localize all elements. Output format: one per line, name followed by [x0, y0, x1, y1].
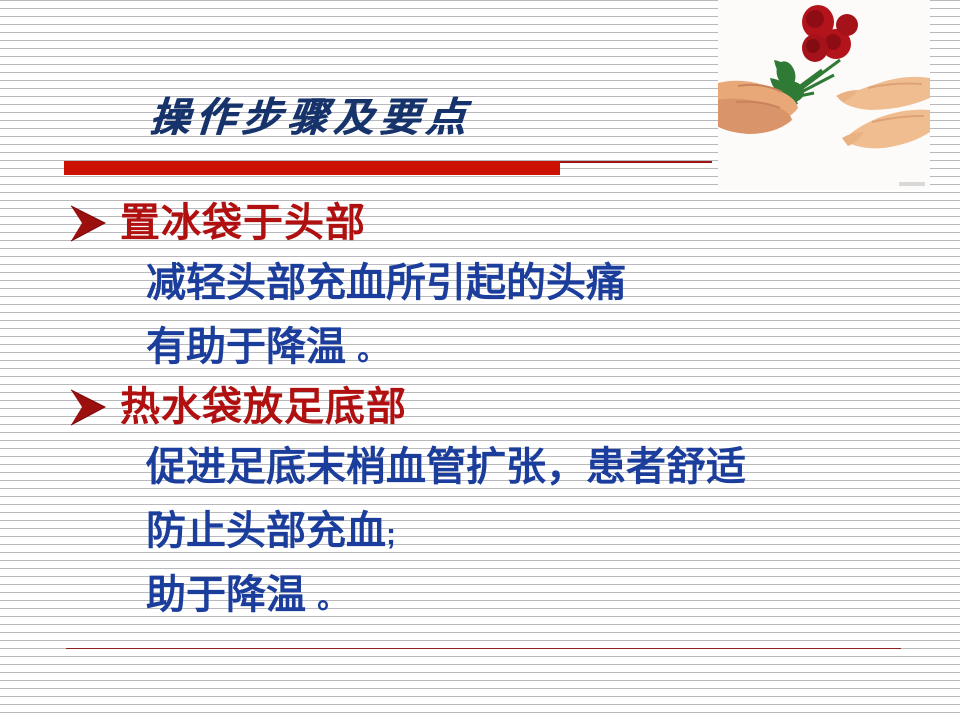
title-accent-bar — [64, 161, 560, 175]
sub-line-punct: ; — [386, 518, 396, 551]
sub-line-text: 促进足底末梢血管扩张，患者舒适 — [146, 445, 746, 489]
arrow-bullet-glyph — [68, 388, 110, 428]
bottom-divider — [66, 648, 901, 649]
sub-line: 有助于降温 。 — [0, 316, 960, 380]
sub-line: 减轻头部充血所引起的头痛 — [0, 252, 960, 316]
title-block: 操作步骤及要点 — [0, 92, 700, 154]
sub-line-text: 有助于降温 — [146, 325, 357, 369]
bullet-heading-text: 置冰袋于头部 — [120, 196, 366, 250]
arrow-bullet-icon — [68, 204, 110, 244]
sub-line: 助于降温 。 — [0, 564, 960, 628]
hands-roses-image — [718, 0, 930, 190]
sub-line-text: 防止头部充血 — [146, 509, 386, 553]
sub-line: 防止头部充血; — [0, 500, 960, 564]
bullet-group-2: 热水袋放足底部 促进足底末梢血管扩张，患者舒适 防止头部充血; 助于降温 。 — [0, 380, 960, 628]
arrow-bullet-glyph — [68, 204, 110, 244]
arrow-bullet-icon — [68, 388, 110, 428]
bullet-heading-text: 热水袋放足底部 — [120, 380, 407, 434]
sub-line-punct: 。 — [317, 582, 347, 615]
page-title: 操作步骤及要点 — [148, 92, 474, 144]
sub-line-text: 助于降温 — [146, 573, 317, 617]
content-body: 置冰袋于头部 减轻头部充血所引起的头痛 有助于降温 。 热水袋放足底部 促进足底… — [0, 196, 960, 628]
sub-line-text: 减轻头部充血所引起的头痛 — [146, 261, 626, 305]
bullet-heading-2: 热水袋放足底部 — [0, 380, 960, 436]
photo-watermark — [899, 182, 925, 186]
bullet-heading-1: 置冰袋于头部 — [0, 196, 960, 252]
sub-line-punct: 。 — [357, 334, 387, 367]
bullet-group-1: 置冰袋于头部 减轻头部充血所引起的头痛 有助于降温 。 — [0, 196, 960, 380]
hands-roses-illustration — [718, 0, 930, 190]
sub-line: 促进足底末梢血管扩张，患者舒适 — [0, 436, 960, 500]
slide-canvas: 操作步骤及要点 置冰袋于头部 减轻头部充血所引起的头痛 有助于降温 。 — [0, 0, 960, 720]
